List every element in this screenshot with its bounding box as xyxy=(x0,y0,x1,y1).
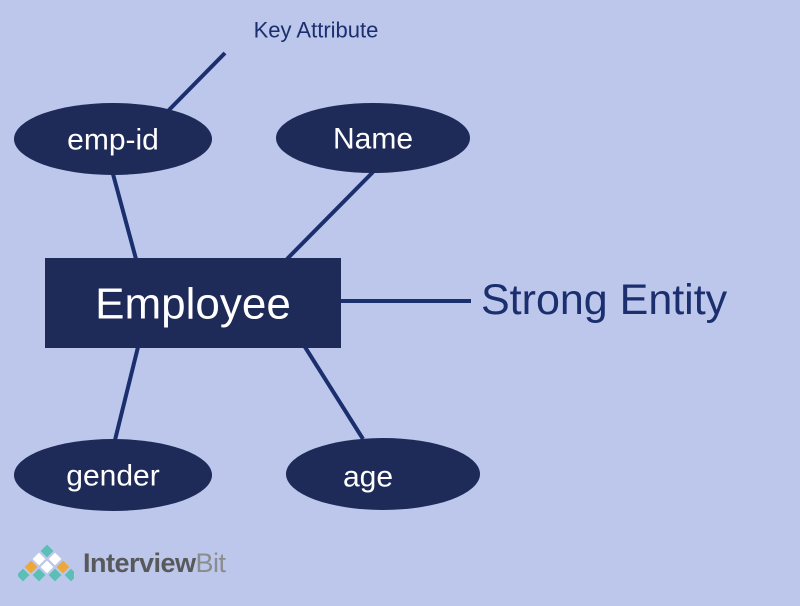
attribute-name-label: Name xyxy=(333,123,413,156)
entity-employee[interactable]: Employee xyxy=(45,258,341,348)
wordmark-primary: Interview xyxy=(83,548,196,578)
annotation-strong-entity: Strong Entity xyxy=(481,276,728,324)
interviewbit-logo: InterviewBit xyxy=(18,543,226,583)
attribute-age[interactable]: age xyxy=(286,438,480,510)
connector-age xyxy=(305,347,363,439)
attribute-emp-id[interactable]: emp-id xyxy=(14,103,212,175)
annotation-key-attribute: Key Attribute xyxy=(254,18,379,43)
interviewbit-wordmark: InterviewBit xyxy=(83,550,226,577)
logo-diamond-grid xyxy=(18,545,74,582)
connector-name xyxy=(287,172,373,259)
attribute-gender[interactable]: gender xyxy=(14,439,212,511)
interviewbit-logo-mark xyxy=(18,543,74,583)
attribute-name[interactable]: Name xyxy=(276,103,470,173)
entity-employee-label: Employee xyxy=(95,280,291,329)
er-diagram: Employee emp-id Name gender age Key Attr… xyxy=(0,0,800,606)
attribute-gender-label: gender xyxy=(66,460,159,493)
diagram-canvas: Employee emp-id Name gender age Key Attr… xyxy=(0,0,800,606)
wordmark-secondary: Bit xyxy=(196,548,226,578)
connector-emp-id xyxy=(113,174,136,259)
attribute-age-label: age xyxy=(343,461,393,494)
connector-gender xyxy=(115,347,138,440)
leader-key-attribute xyxy=(166,53,225,113)
attribute-emp-id-label: emp-id xyxy=(67,124,159,157)
